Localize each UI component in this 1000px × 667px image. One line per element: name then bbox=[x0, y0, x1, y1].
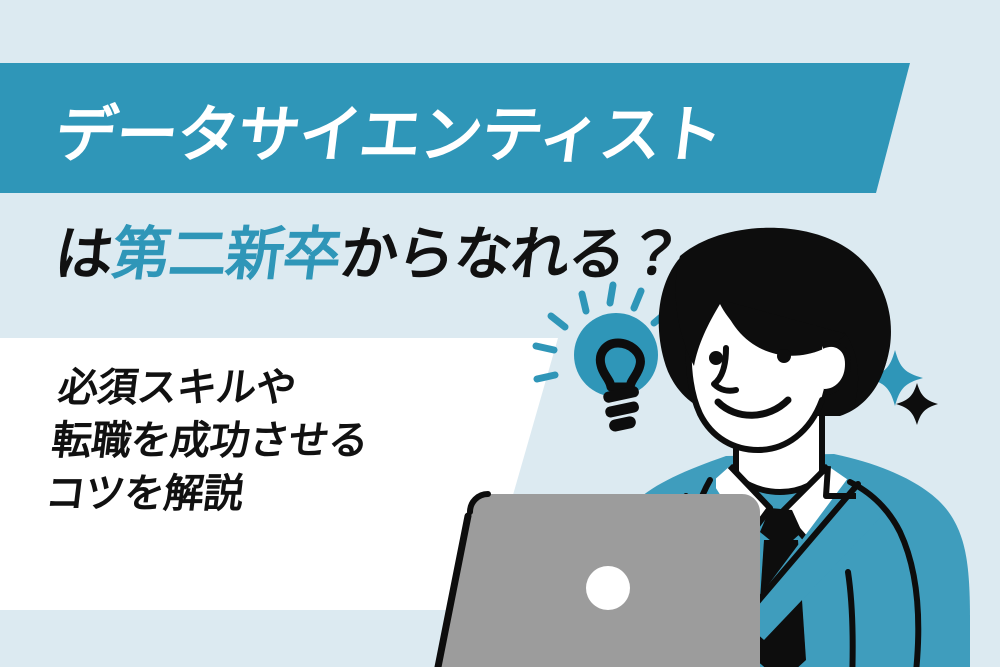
subhead-line-2: 転職を成功させる bbox=[49, 415, 515, 468]
lightbulb-icon bbox=[536, 285, 667, 433]
subhead-text: 必須スキルや 転職を成功させる コツを解説 bbox=[42, 362, 521, 520]
banner-title-text: データサイエンティスト bbox=[50, 84, 728, 174]
headline-suffix: からなれる？ bbox=[336, 207, 688, 291]
laptop-logo-icon bbox=[586, 566, 630, 610]
headline-secondary: は第二新卒からなれる？ bbox=[51, 206, 689, 292]
headline-prefix: は bbox=[51, 207, 118, 291]
sparkle-icon bbox=[896, 383, 938, 425]
headline-highlight: 第二新卒 bbox=[108, 207, 346, 291]
banner-title: データサイエンティスト bbox=[49, 70, 893, 188]
subhead-line-3: コツを解説 bbox=[42, 468, 508, 521]
eyecatch-canvas: データサイエンティスト は第二新卒からなれる？ 必須スキルや 転職を成功させる … bbox=[0, 0, 1000, 667]
subhead-line-1: 必須スキルや bbox=[55, 362, 521, 415]
